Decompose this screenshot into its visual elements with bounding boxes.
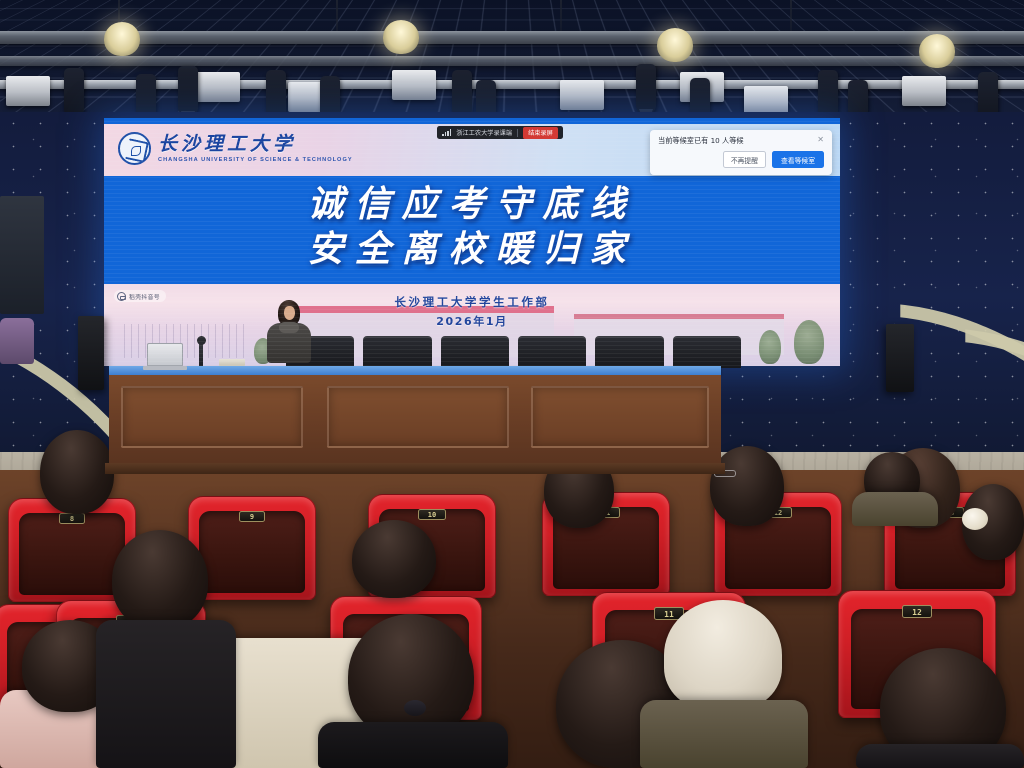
university-logo: 长沙理工大学 CHANGSHA UNIVERSITY OF SCIENCE & …: [118, 132, 353, 165]
podium-desk: [109, 366, 721, 474]
view-waiting-room-button[interactable]: 查看等候室: [772, 151, 824, 168]
footer-organization: 长沙理工大学学生工作部: [104, 294, 840, 310]
podium-base: [105, 463, 725, 474]
seat-back-inner: [199, 511, 305, 593]
side-board-left: [0, 196, 44, 314]
toolbar-divider: [517, 129, 518, 137]
slide-watermark: 稻壳抖音号: [114, 290, 166, 302]
podium-panel: [327, 386, 509, 448]
recording-app-label: 浙江工农大学录课端: [456, 128, 512, 137]
dont-remind-button[interactable]: 不再提醒: [723, 151, 766, 168]
presenter-scarf: [279, 322, 299, 333]
tree-graphic: [759, 330, 781, 364]
pendant-lamp: [104, 22, 140, 56]
empty-chair: [673, 336, 741, 368]
stage-light-fixture: [560, 80, 604, 110]
audience-body: [856, 744, 1024, 768]
headline-line-1: 诚信应考守底线: [104, 182, 840, 227]
audience-body: [852, 492, 938, 526]
audience-head: [352, 520, 436, 598]
speaker-tower-right: [886, 324, 914, 392]
audience-body: [640, 700, 808, 768]
empty-chair: [518, 336, 586, 368]
watermark-badge-icon: [117, 292, 126, 301]
slide-footer: 长沙理工大学学生工作部 2026年1月: [104, 294, 840, 329]
hair-clip: [404, 700, 426, 716]
pendant-lamp: [919, 34, 955, 68]
empty-chair: [441, 336, 509, 368]
empty-chair: [595, 336, 663, 368]
signal-bars-icon: [442, 129, 451, 136]
seat-number-plate: 10: [418, 509, 446, 520]
podium-front: [109, 375, 721, 463]
presenter-face: [284, 306, 295, 320]
stage-light-fixture: [902, 76, 946, 106]
spotlight: [452, 70, 472, 118]
desk-papers: [219, 359, 245, 366]
seat-number-plate: 9: [239, 511, 265, 522]
spotlight: [64, 68, 84, 118]
side-stool: [0, 318, 34, 364]
audience-head: [40, 430, 114, 514]
footer-date: 2026年1月: [104, 313, 840, 329]
slide-headline: 诚信应考守底线 安全离校暖归家: [104, 182, 840, 273]
speaker-tower-left: [78, 316, 104, 390]
led-presentation-screen: 长沙理工大学 CHANGSHA UNIVERSITY OF SCIENCE & …: [104, 118, 840, 366]
spotlight: [636, 64, 656, 114]
audience-head-with-beanie: [664, 600, 782, 710]
stage-light-fixture: [6, 76, 50, 106]
laptop: [145, 344, 185, 370]
spotlight: [266, 70, 286, 118]
waiting-room-toast[interactable]: 当前等候室已有 10 人等候 ✕ 不再提醒 查看等候室: [650, 130, 832, 175]
university-seal-icon: [118, 132, 151, 165]
microphone: [199, 340, 203, 366]
university-name-en: CHANGSHA UNIVERSITY OF SCIENCE & TECHNOL…: [158, 157, 353, 163]
audience-body: [318, 722, 508, 768]
podium-panel: [531, 386, 709, 448]
empty-chair: [363, 336, 431, 368]
seat-back-inner: [19, 513, 125, 595]
audience-head: [112, 530, 208, 630]
seat-number-plate: 12: [902, 605, 932, 618]
headline-line-2: 安全离校暖归家: [104, 227, 840, 272]
lighting-cable: [560, 0, 562, 34]
pendant-lamp: [657, 28, 693, 62]
toast-message: 当前等候室已有 10 人等候: [658, 136, 744, 145]
laptop-screen: [147, 343, 183, 366]
recording-toolbar[interactable]: 浙江工农大学录课端 结束录屏: [437, 126, 563, 139]
laptop-base: [143, 366, 187, 370]
podium-tabletop: [109, 366, 721, 375]
presenter-person: [265, 300, 313, 362]
spotlight: [818, 70, 838, 118]
lighting-truss: [0, 56, 1024, 66]
audience-body: [96, 620, 236, 768]
stage-light-fixture: [392, 70, 436, 100]
auditorium-photo: 长沙理工大学 CHANGSHA UNIVERSITY OF SCIENCE & …: [0, 0, 1024, 768]
lighting-truss: [0, 31, 1024, 44]
empty-chair-row: [286, 336, 741, 368]
seat-number-plate: 8: [59, 513, 85, 524]
ceiling: [0, 0, 1024, 118]
audience-head: [710, 446, 784, 526]
stage-light-fixture: [196, 72, 240, 102]
spotlight: [178, 66, 198, 116]
pendant-lamp: [383, 20, 419, 54]
stop-recording-button[interactable]: 结束录屏: [523, 127, 558, 139]
hair-scrunchie: [962, 508, 988, 530]
watermark-label: 稻壳抖音号: [129, 292, 160, 301]
podium-panel: [121, 386, 303, 448]
close-icon[interactable]: ✕: [817, 136, 824, 144]
university-name-cn: 长沙理工大学: [158, 135, 353, 154]
